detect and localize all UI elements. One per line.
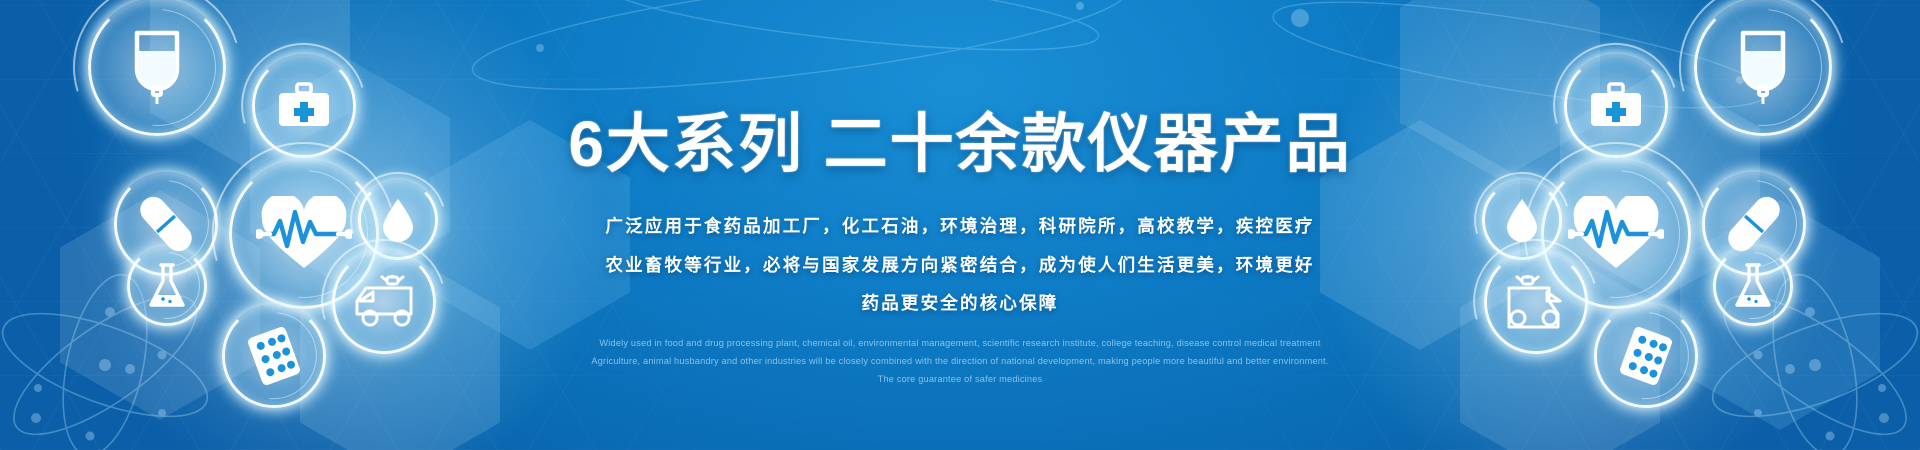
banner-headline: 6大系列 二十余款仪器产品 [568,112,1351,176]
banner-english-line-1: Widely used in food and drug processing … [599,339,1320,348]
banner-subtitle-line-3: 药品更安全的核心保障 [862,295,1059,313]
banner-english-line-3: The core guarantee of safer medicines [878,375,1043,384]
banner-subtitle-line-1: 广泛应用于食药品加工厂，化工石油，环境治理，科研院所，高校教学，疾控医疗 [605,218,1314,236]
banner-text-block: 6大系列 二十余款仪器产品 广泛应用于食药品加工厂，化工石油，环境治理，科研院所… [0,0,1920,450]
promo-banner: 6大系列 二十余款仪器产品 广泛应用于食药品加工厂，化工石油，环境治理，科研院所… [0,0,1920,450]
banner-english-line-2: Agriculture, animal husbandry and other … [591,357,1328,366]
banner-subtitle-line-2: 农业畜牧等行业，必将与国家发展方向紧密结合，成为使人们生活更美，环境更好 [605,257,1314,275]
